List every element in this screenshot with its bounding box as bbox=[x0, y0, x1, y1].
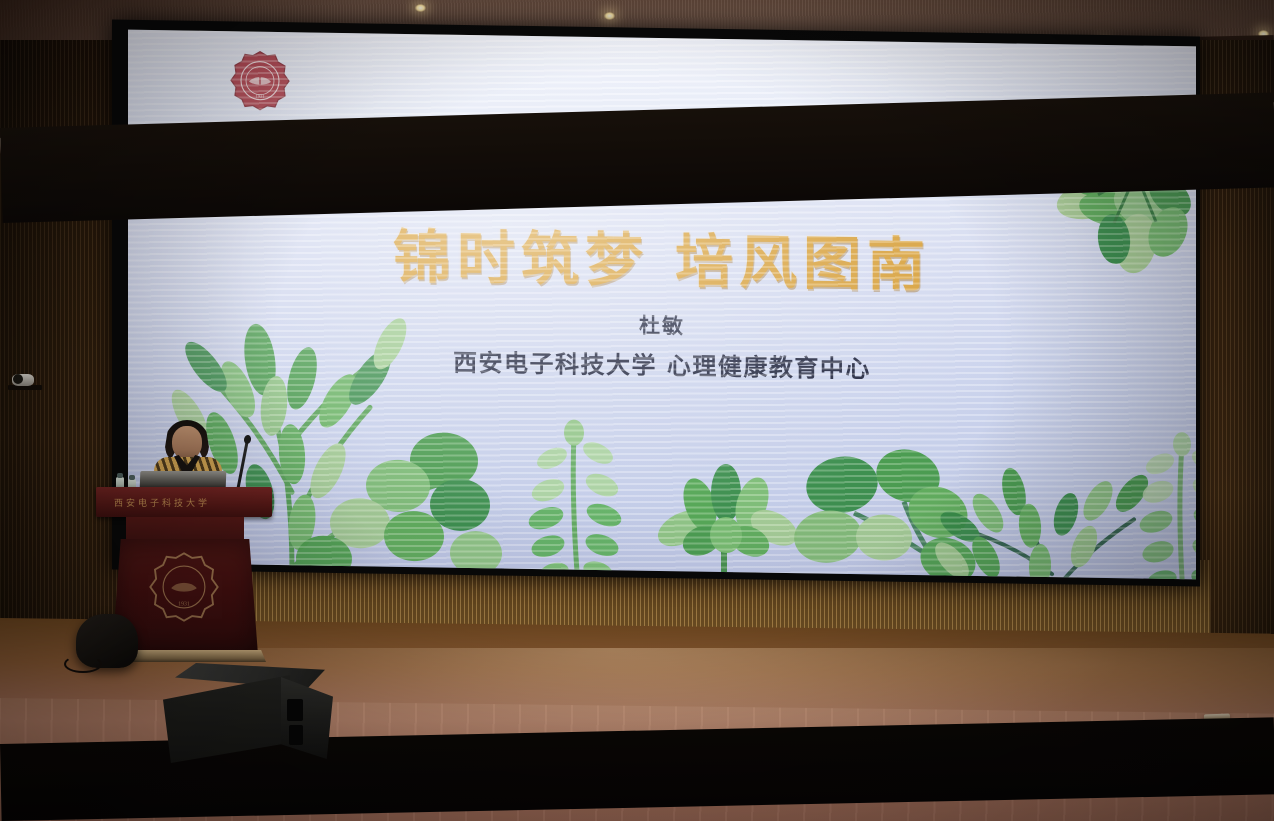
svg-text:1931: 1931 bbox=[256, 94, 265, 99]
plant-center-left-fern bbox=[516, 414, 636, 580]
podium-top-lettering: 西安电子科技大学 bbox=[114, 496, 254, 508]
slide-title-part1: 锦时筑梦 bbox=[393, 223, 649, 295]
plant-center-fan bbox=[640, 456, 810, 580]
podium-top-surface: 西安电子科技大学 bbox=[96, 487, 272, 517]
camera-lens-icon bbox=[13, 374, 23, 384]
speaker-handle-port-2 bbox=[289, 725, 303, 745]
slide-title-part2: 培风图南 bbox=[675, 227, 931, 299]
stage-monitor-speaker bbox=[163, 663, 333, 763]
speaker-handle-port-1 bbox=[287, 699, 303, 721]
plant-center-right-clover bbox=[788, 440, 988, 579]
bottle-cap-2 bbox=[129, 475, 135, 480]
slide-title: 锦时筑梦培风图南 bbox=[128, 206, 1196, 307]
ceiling-light-1 bbox=[415, 4, 426, 12]
speaker-front-grille bbox=[163, 675, 295, 763]
lecture-hall-photo: 1931 西安电子科技大学 XIDIAN UNIVERSITY 锦时筑梦培风图南… bbox=[0, 0, 1274, 821]
bottle-cap-1 bbox=[117, 473, 123, 478]
podium-university-seal-icon: 1931 bbox=[148, 551, 220, 623]
ceiling-light-2 bbox=[604, 12, 615, 20]
wall-mounted-camera bbox=[8, 372, 42, 390]
plant-far-right-fern bbox=[1128, 427, 1196, 579]
coiled-cable bbox=[64, 655, 102, 673]
university-seal-icon: 1931 bbox=[229, 49, 291, 112]
svg-text:1931: 1931 bbox=[178, 602, 190, 608]
presenter-head bbox=[172, 426, 202, 460]
plant-right-branch bbox=[934, 452, 1174, 579]
